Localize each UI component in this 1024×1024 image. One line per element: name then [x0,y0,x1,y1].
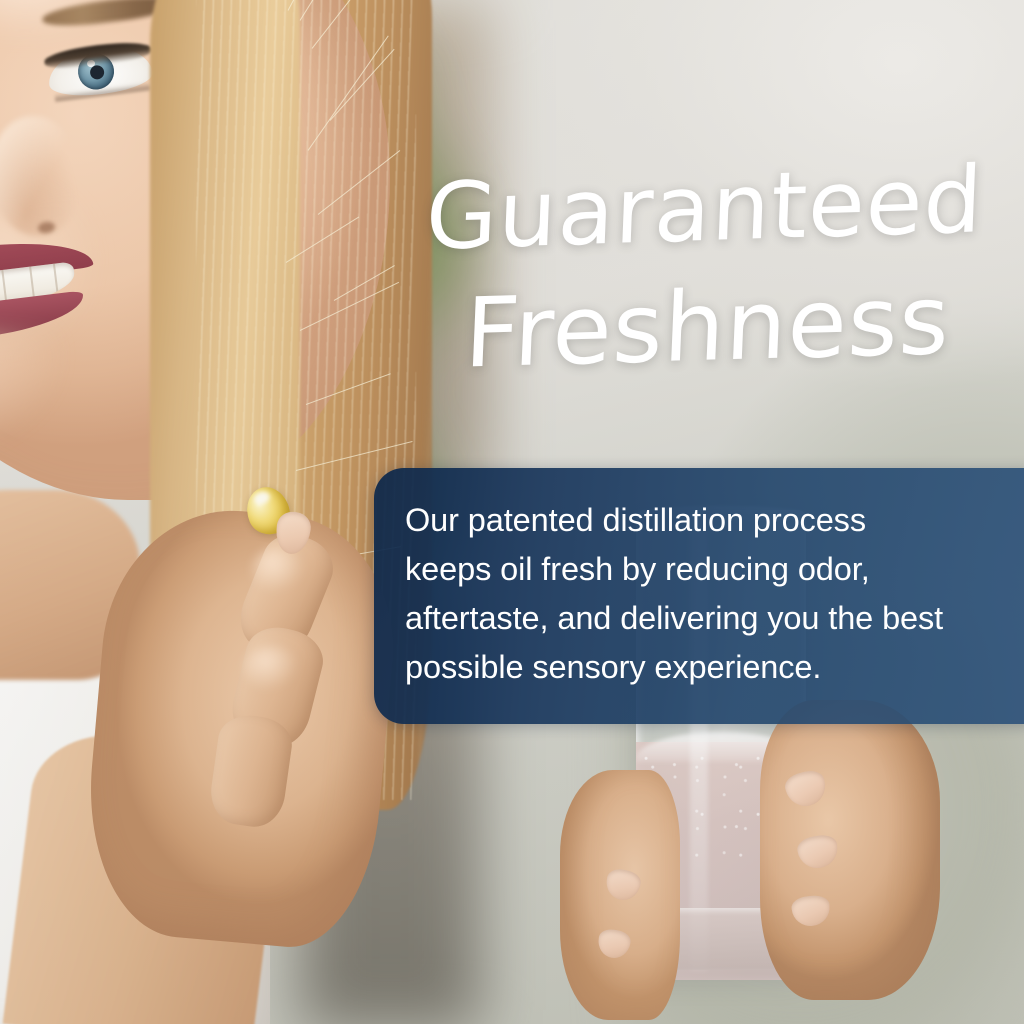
body-copy-line: keeps oil fresh by reducing odor, [405,545,994,594]
eye-right [46,42,155,100]
body-copy-line: aftertaste, and delivering you the best [405,594,994,643]
body-copy-line: possible sensory experience. [405,643,994,692]
body-copy-line: Our patented distillation process [405,496,994,545]
knuckle [244,646,298,690]
nose [0,116,80,236]
body-copy-panel: Our patented distillation process keeps … [374,468,1024,724]
hand-holding-glass [760,700,940,1000]
knuckle [252,548,304,592]
body-copy-text: Our patented distillation process keeps … [405,496,994,692]
headline: Guaranteed Freshness [389,147,1013,389]
advertisement-canvas: Guaranteed Freshness Our patented distil… [0,0,1024,1024]
chin [0,332,60,452]
headline-line-2: Freshness [400,259,1016,394]
headline-line-1: Guaranteed [397,140,1013,277]
